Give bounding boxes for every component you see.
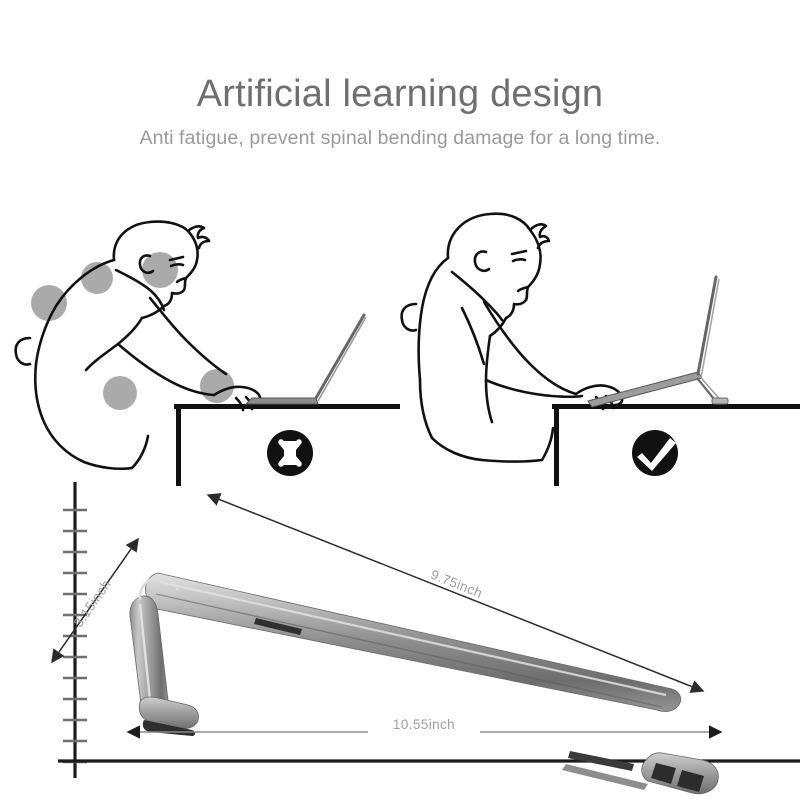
cross-badge-icon	[267, 430, 313, 476]
check-badge-icon	[632, 430, 678, 476]
dimension-height: 3.15inch	[52, 539, 138, 662]
dimension-label-width-text: 10.55inch	[393, 717, 455, 732]
page-subtitle: Anti fatigue, prevent spinal bending dam…	[0, 127, 800, 150]
person-outline-hunched	[16, 222, 261, 469]
header: Artificial learning design Anti fatigue,…	[0, 74, 800, 150]
sidebar-item-good-posture: ✔	[400, 198, 800, 493]
person-outline-upright	[402, 214, 623, 462]
infographic-page: Artificial learning design Anti fatigue,…	[0, 0, 800, 800]
dimension-label-height: 3.15inch	[71, 577, 114, 630]
sidebar-item-bad-posture: X	[0, 198, 400, 493]
dimension-label-slope: 9.75inch	[429, 567, 485, 601]
posture-comparison: X	[0, 198, 800, 493]
laptop-stand-dimension-diagram: 3.15inch 9.75inch 10.55inch 10.55inch	[0, 478, 800, 800]
laptop-flat	[246, 315, 366, 404]
page-title: Artificial learning design	[0, 74, 800, 116]
